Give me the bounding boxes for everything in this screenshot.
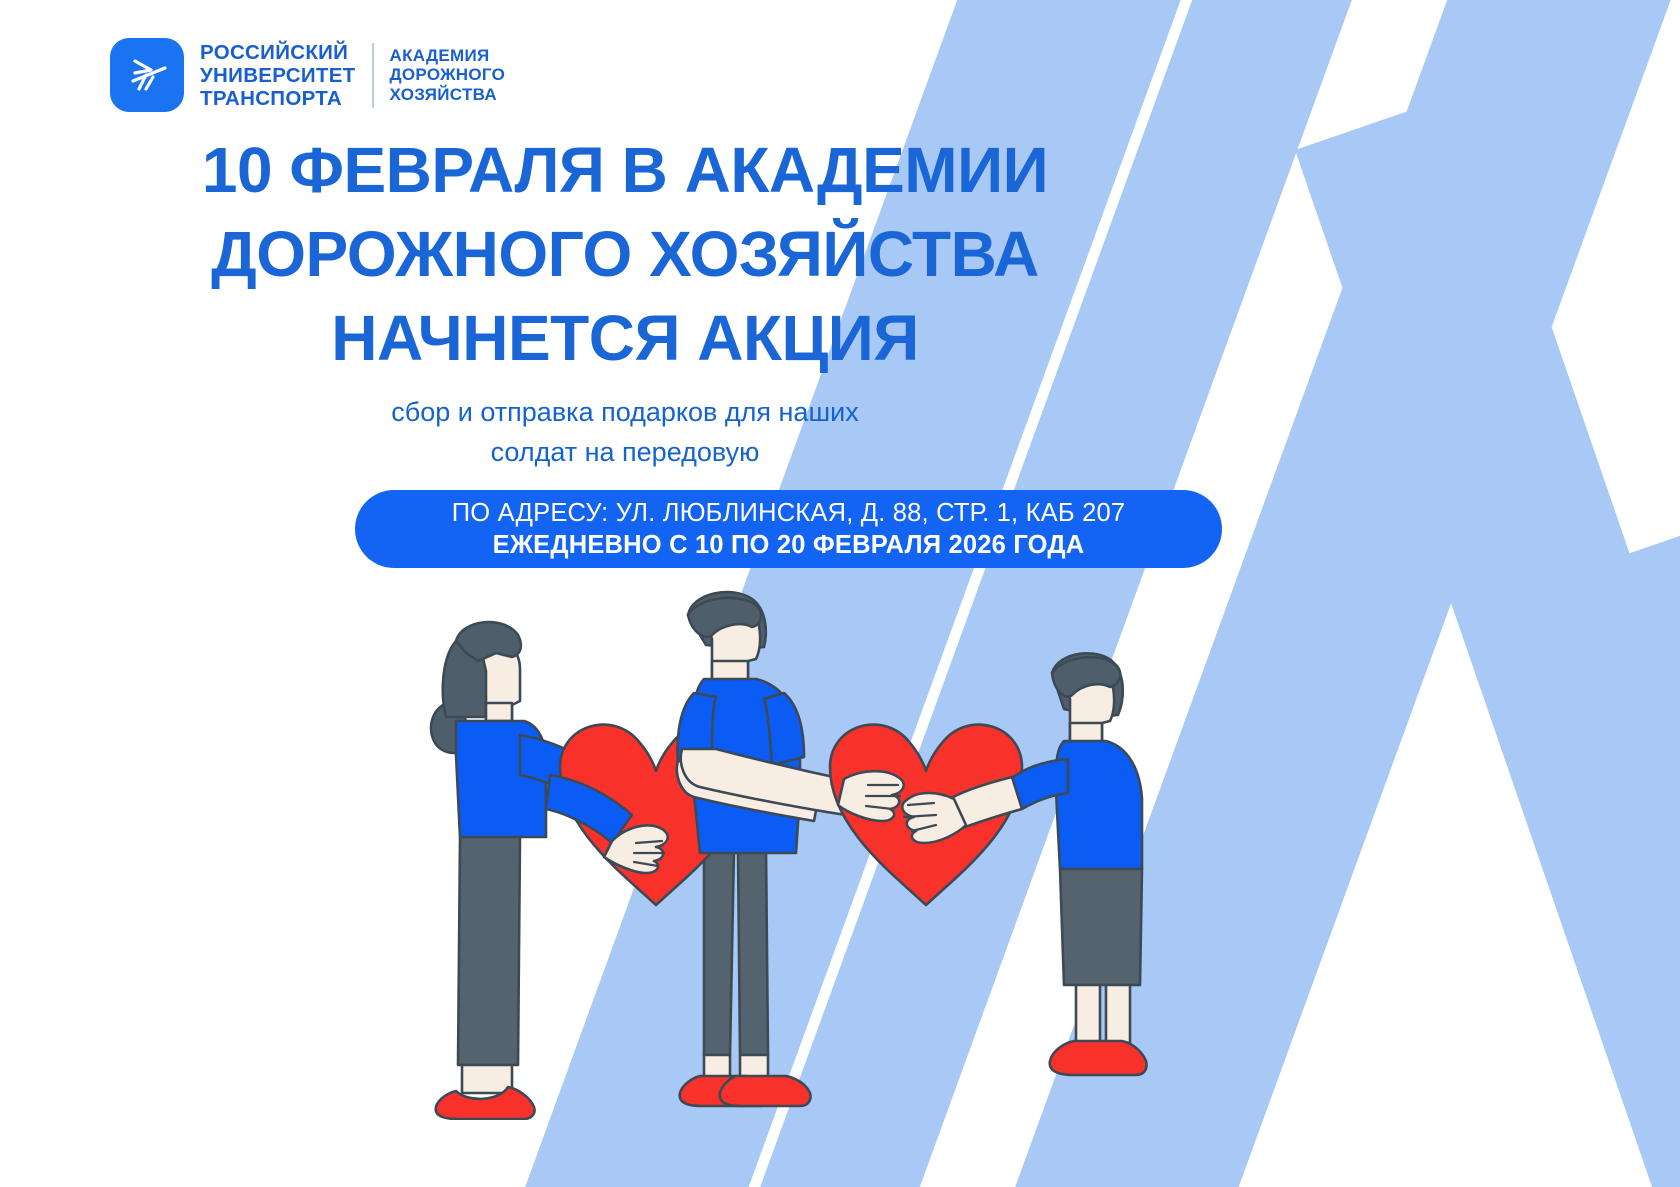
brand-university-line-3: ТРАНСПОРТА — [200, 87, 356, 110]
page-title-line-1: 10 ФЕВРАЛЯ В АКАДЕМИИ — [0, 128, 1250, 212]
banner-address: ПО АДРЕСУ: УЛ. ЛЮБЛИНСКАЯ, Д. 88, СТР. 1… — [452, 497, 1125, 529]
brand-university-name: РОССИЙСКИЙ УНИВЕРСИТЕТ ТРАНСПОРТА — [200, 41, 372, 110]
page-title: 10 ФЕВРАЛЯ В АКАДЕМИИ ДОРОЖНОГО ХОЗЯЙСТВ… — [0, 128, 1250, 380]
brand-academy-line-3: ХОЗЯЙСТВА — [390, 85, 506, 105]
page-subtitle-line-2: солдат на передовую — [0, 432, 1250, 472]
brand-university-line-1: РОССИЙСКИЙ — [200, 41, 356, 64]
poster-canvas: РОССИЙСКИЙ УНИВЕРСИТЕТ ТРАНСПОРТА АКАДЕМ… — [0, 0, 1680, 1187]
brand-academy-line-2: ДОРОЖНОГО — [390, 65, 506, 85]
rut-plane-icon — [110, 38, 184, 112]
page-subtitle: сбор и отправка подарков для наших солда… — [0, 392, 1250, 472]
info-banner: ПО АДРЕСУ: УЛ. ЛЮБЛИНСКАЯ, Д. 88, СТР. 1… — [355, 490, 1222, 568]
brand-wordmark: РОССИЙСКИЙ УНИВЕРСИТЕТ ТРАНСПОРТА АКАДЕМ… — [200, 41, 505, 110]
three-people-holding-hearts-illustration — [400, 575, 1200, 1120]
brand-university-line-2: УНИВЕРСИТЕТ — [200, 64, 356, 87]
brand-logo: РОССИЙСКИЙ УНИВЕРСИТЕТ ТРАНСПОРТА АКАДЕМ… — [110, 38, 505, 112]
page-subtitle-line-1: сбор и отправка подарков для наших — [0, 392, 1250, 432]
page-title-line-3: НАЧНЕТСЯ АКЦИЯ — [0, 296, 1250, 380]
page-title-line-2: ДОРОЖНОГО ХОЗЯЙСТВА — [0, 212, 1250, 296]
brand-academy-line-1: АКАДЕМИЯ — [390, 46, 506, 66]
banner-dates: ЕЖЕДНЕВНО С 10 ПО 20 ФЕВРАЛЯ 2026 ГОДА — [493, 529, 1085, 561]
brand-academy-name: АКАДЕМИЯ ДОРОЖНОГО ХОЗЯЙСТВА — [374, 46, 506, 105]
